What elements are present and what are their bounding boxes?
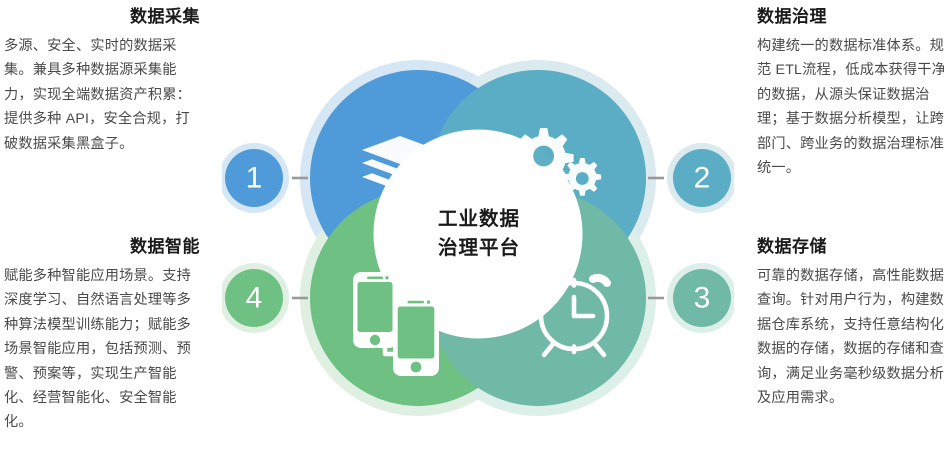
- badge-3-label: 3: [694, 282, 711, 315]
- badge-1-label: 1: [246, 162, 263, 195]
- badge-4-label: 4: [246, 282, 263, 315]
- badge-4[interactable]: 4: [222, 263, 289, 333]
- section-body-data-intelligence: 赋能多种智能应用场景。支持深度学习、自然语言处理等多种算法模型训练能力；赋能多场…: [4, 264, 200, 435]
- section-text-data-storage: 数据存储 可靠的数据存储，高性能数据查询。针对用户行为，构建数据仓库系统，支持任…: [757, 236, 944, 410]
- section-title-data-intelligence: 数据智能: [4, 236, 200, 259]
- section-text-data-governance: 数据治理 构建统一的数据标准体系。规范 ETL流程，低成本获得干净的数据，从源头…: [757, 6, 944, 180]
- badge-3[interactable]: 3: [667, 263, 734, 333]
- section-title-data-governance: 数据治理: [757, 6, 944, 29]
- section-title-data-storage: 数据存储: [757, 236, 944, 259]
- section-text-data-collection: 数据采集 多源、安全、实时的数据采集。兼具多种数据源采集能力，实现全端数据资产积…: [4, 6, 200, 156]
- badge-2-label: 2: [694, 162, 711, 195]
- badge-2[interactable]: 2: [667, 143, 734, 213]
- section-title-data-collection: 数据采集: [4, 6, 200, 29]
- infographic-root: 数据采集 多源、安全、实时的数据采集。兼具多种数据源采集能力，实现全端数据资产积…: [0, 0, 944, 465]
- section-body-data-storage: 可靠的数据存储，高性能数据查询。针对用户行为，构建数据仓库系统，支持任意结构化数…: [757, 264, 944, 411]
- section-body-data-collection: 多源、安全、实时的数据采集。兼具多种数据源采集能力，实现全端数据资产积累：提供多…: [4, 34, 200, 156]
- section-body-data-governance: 构建统一的数据标准体系。规范 ETL流程，低成本获得干净的数据，从源头保证数据治…: [757, 34, 944, 181]
- badge-1[interactable]: 1: [222, 143, 289, 213]
- venn-diagram: 1 2 3 4 工业数据 治理平台: [222, 32, 734, 434]
- section-text-data-intelligence: 数据智能 赋能多种智能应用场景。支持深度学习、自然语言处理等多种算法模型训练能力…: [4, 236, 200, 435]
